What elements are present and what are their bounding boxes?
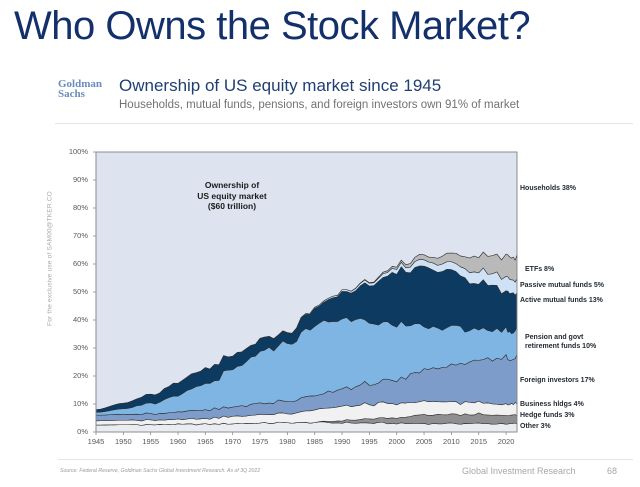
x-axis-tick-label: 1970 — [218, 437, 248, 446]
x-axis-tick-label: 1995 — [354, 437, 384, 446]
y-axis-tick-label: 70% — [56, 231, 88, 240]
x-axis-tick-label: 1955 — [136, 437, 166, 446]
y-axis-tick-label: 30% — [56, 343, 88, 352]
series-label-hedge-funds: Hedge funds 3% — [520, 412, 574, 421]
x-axis-tick-label: 2005 — [409, 437, 439, 446]
series-label-business-hldgs: Business hldgs 4% — [520, 401, 584, 410]
x-axis-tick-label: 2020 — [491, 437, 521, 446]
x-axis-tick-label: 2015 — [464, 437, 494, 446]
callout-line-3: ($60 trillion) — [152, 201, 312, 212]
y-axis-tick-label: 60% — [56, 259, 88, 268]
series-label-passive-mutual-funds: Passive mutual funds 5% — [520, 282, 604, 291]
y-axis-tick-label: 50% — [56, 287, 88, 296]
y-axis-tick-label: 20% — [56, 371, 88, 380]
y-axis-tick-label: 0% — [56, 427, 88, 436]
slide-root: Who Owns the Stock Market? Goldman Sachs… — [0, 0, 640, 487]
y-axis-tick-label: 90% — [56, 175, 88, 184]
callout-line-1: Ownership of — [152, 180, 312, 191]
x-axis-tick-label: 1985 — [300, 437, 330, 446]
footer-research-label: Global Investment Research — [462, 466, 576, 476]
series-label-active-mutual-funds: Active mutual funds 13% — [520, 297, 603, 306]
x-axis-tick-label: 1980 — [272, 437, 302, 446]
series-label-line-1: Pension and govt — [525, 334, 596, 343]
y-axis-tick-label: 10% — [56, 399, 88, 408]
x-axis-tick-label: 1965 — [190, 437, 220, 446]
callout-line-2: US equity market — [152, 191, 312, 202]
x-axis-tick-label: 1945 — [81, 437, 111, 446]
y-axis-tick-label: 100% — [56, 147, 88, 156]
series-label-households: Households 38% — [520, 185, 576, 194]
x-axis-tick-label: 2000 — [382, 437, 412, 446]
x-axis-tick-label: 2010 — [436, 437, 466, 446]
y-axis-tick-label: 80% — [56, 203, 88, 212]
x-axis-tick-label: 1960 — [163, 437, 193, 446]
series-label-pension-and-govt-retirement-funds: Pension and govtretirement funds 10% — [525, 334, 596, 351]
y-axis-tick-label: 40% — [56, 315, 88, 324]
x-axis-tick-label: 1975 — [245, 437, 275, 446]
footer-divider — [58, 459, 633, 460]
footer-page-number: 68 — [607, 466, 617, 476]
series-label-line-2: retirement funds 10% — [525, 343, 596, 352]
series-label-etfs: ETFs 8% — [525, 266, 554, 275]
series-label-other: Other 3% — [520, 423, 551, 432]
series-label-foreign-investors: Foreign investors 17% — [520, 377, 595, 386]
x-axis-tick-label: 1950 — [108, 437, 138, 446]
chart-callout: Ownership of US equity market ($60 trill… — [152, 180, 312, 212]
source-note: Source: Federal Reserve, Goldman Sachs G… — [60, 468, 260, 474]
x-axis-tick-label: 1990 — [327, 437, 357, 446]
